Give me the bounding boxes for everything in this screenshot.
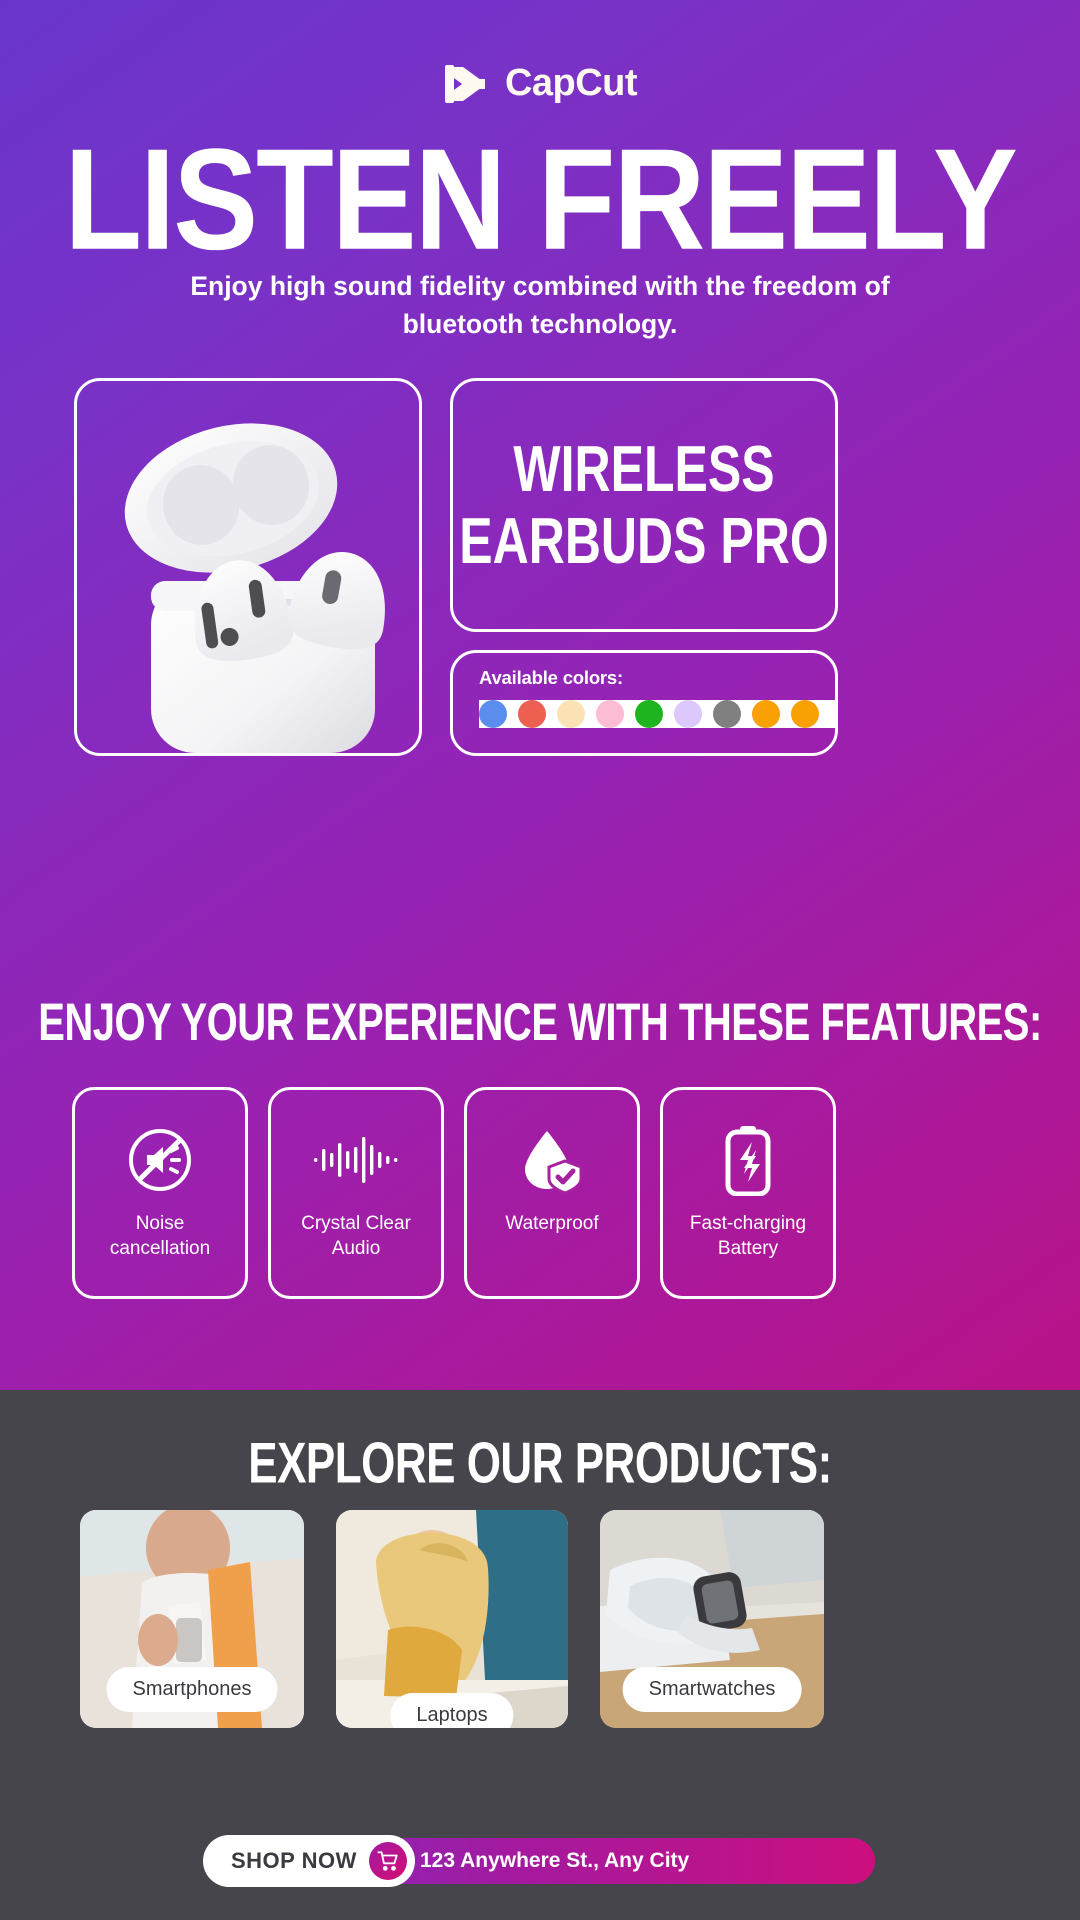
color-swatch-pink[interactable] xyxy=(635,700,663,728)
product-label: Smartphones xyxy=(107,1667,278,1712)
feature-label: Fast-charging Battery xyxy=(663,1212,833,1261)
hero-section: CapCut LISTEN FREELY Enjoy high sound fi… xyxy=(0,0,1080,1390)
footer-bar: SHOP NOW 123 Anywhere St., Any City xyxy=(205,1838,875,1884)
audio-waveform-icon xyxy=(312,1124,400,1196)
feature-label: Noise cancellation xyxy=(75,1212,245,1261)
features-list: Noise cancellation xyxy=(72,1087,836,1299)
feature-label: Crystal Clear Audio xyxy=(271,1212,441,1261)
feature-card-noise-cancellation: Noise cancellation xyxy=(72,1087,248,1299)
color-swatch-blue[interactable] xyxy=(518,700,546,728)
feature-label: Waterproof xyxy=(497,1212,606,1237)
feature-card-waterproof: Waterproof xyxy=(464,1087,640,1299)
water-drop-shield-icon xyxy=(517,1124,587,1196)
poster-root: CapCut LISTEN FREELY Enjoy high sound fi… xyxy=(0,0,1080,1920)
product-label: Smartwatches xyxy=(623,1667,802,1712)
footer-address: 123 Anywhere St., Any City xyxy=(420,1849,689,1873)
subheadline: Enjoy high sound fidelity combined with … xyxy=(140,268,940,343)
no-noise-icon xyxy=(127,1124,193,1196)
earbuds-image xyxy=(85,403,422,753)
available-colors-label: Available colors: xyxy=(479,667,835,689)
color-swatch-lavender[interactable] xyxy=(713,700,741,728)
shopping-cart-icon xyxy=(369,1842,407,1880)
product-title-line-2: EARBUDS PRO xyxy=(459,507,828,575)
product-grid: Smartphones Laptops xyxy=(80,1510,824,1728)
feature-card-fast-charging-battery: Fast-charging Battery xyxy=(660,1087,836,1299)
product-photo-card xyxy=(74,378,422,756)
color-swatch-green[interactable] xyxy=(674,700,702,728)
available-colors-card: Available colors: xyxy=(450,650,838,756)
products-heading: EXPLORE OUR PRODUCTS: xyxy=(0,1432,1080,1497)
product-card-laptops[interactable]: Laptops xyxy=(336,1510,568,1728)
color-swatch-white[interactable] xyxy=(479,700,507,728)
capcut-logo-icon xyxy=(443,64,489,104)
brand-name: CapCut xyxy=(505,62,637,105)
color-swatch-orange[interactable] xyxy=(791,700,819,728)
product-title-line-1: WIRELESS xyxy=(513,435,774,503)
battery-charging-icon xyxy=(722,1124,774,1196)
product-card-smartphones[interactable]: Smartphones xyxy=(80,1510,304,1728)
features-heading: ENJOY YOUR EXPERIENCE WITH THESE FEATURE… xyxy=(0,994,1080,1053)
color-swatch-coral-red[interactable] xyxy=(557,700,585,728)
product-card-smartwatches[interactable]: Smartwatches xyxy=(600,1510,824,1728)
page-title: LISTEN FREELY xyxy=(0,128,1080,272)
product-title-card: WIRELESS EARBUDS PRO xyxy=(450,378,838,632)
feature-card-crystal-clear-audio: Crystal Clear Audio xyxy=(268,1087,444,1299)
color-swatch-gray[interactable] xyxy=(752,700,780,728)
shop-now-button[interactable]: SHOP NOW xyxy=(203,1835,415,1887)
shop-now-label: SHOP NOW xyxy=(231,1848,357,1874)
color-swatch-cream[interactable] xyxy=(596,700,624,728)
product-label: Laptops xyxy=(390,1693,513,1728)
brand-logo: CapCut xyxy=(0,62,1080,105)
color-swatch-list xyxy=(479,700,835,728)
